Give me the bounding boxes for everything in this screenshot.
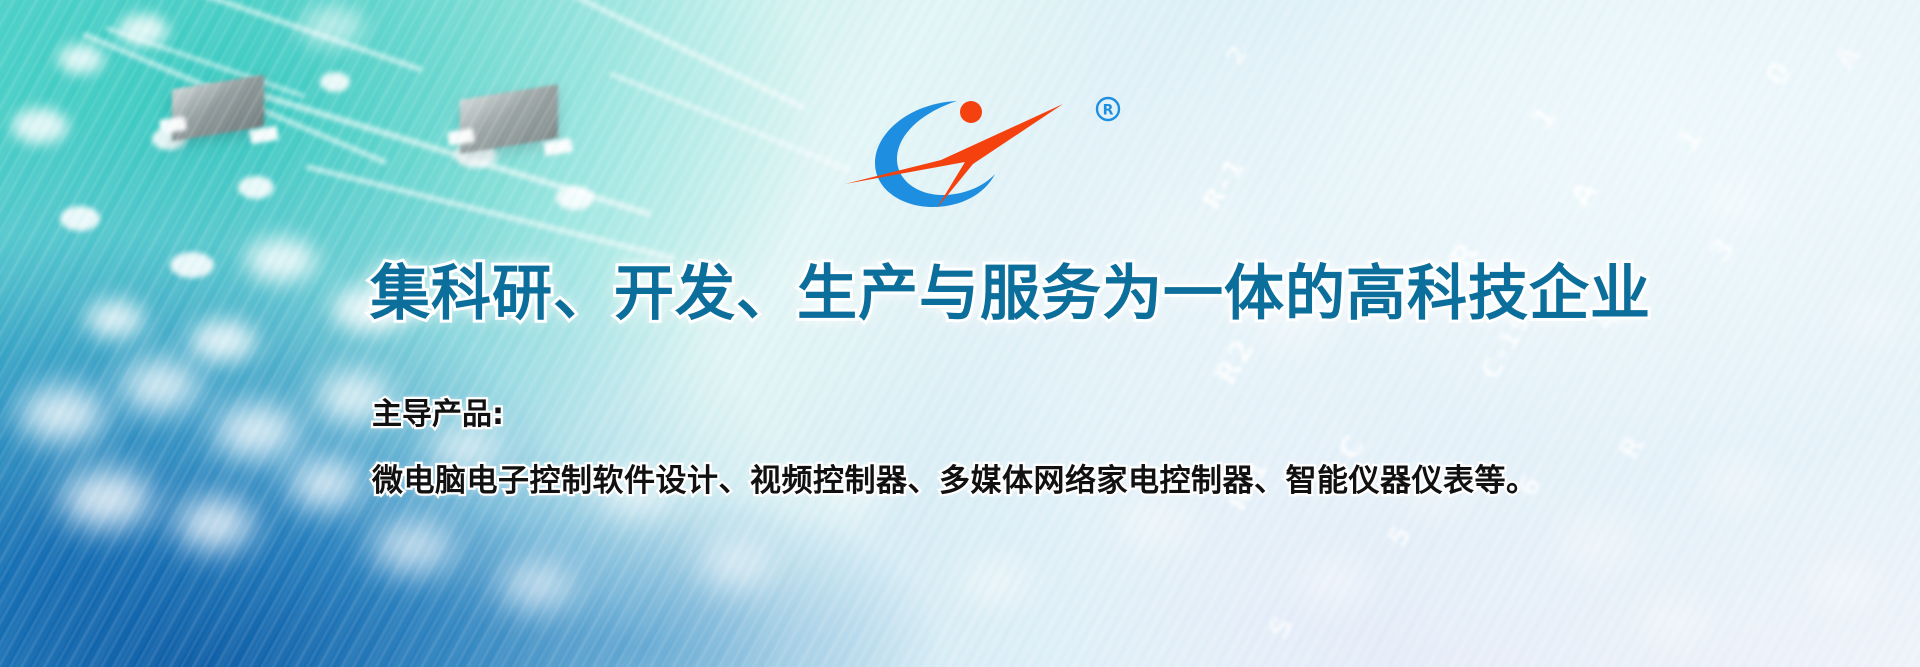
subtitle-label: 主导产品: [372,400,504,430]
logo-dot [960,101,982,123]
banner-content: R 集科研、开发、生产与服务为一体的高科技企业 主导产品: 微电脑电子控制软件设… [0,0,1920,667]
company-logo[interactable]: R [845,90,1125,210]
subtitle-products: 微电脑电子控制软件设计、视频控制器、多媒体网络家电控制器、智能仪器仪表等。 [372,466,1538,497]
svg-text:R: R [1103,103,1114,119]
registered-trademark-icon: R [1097,98,1119,120]
hero-banner: R-1 R2 R-1 S C 5 R C-19 6 1 A 4 R 1 3 0 … [0,0,1920,667]
headline: 集科研、开发、生产与服务为一体的高科技企业 [370,264,1651,324]
